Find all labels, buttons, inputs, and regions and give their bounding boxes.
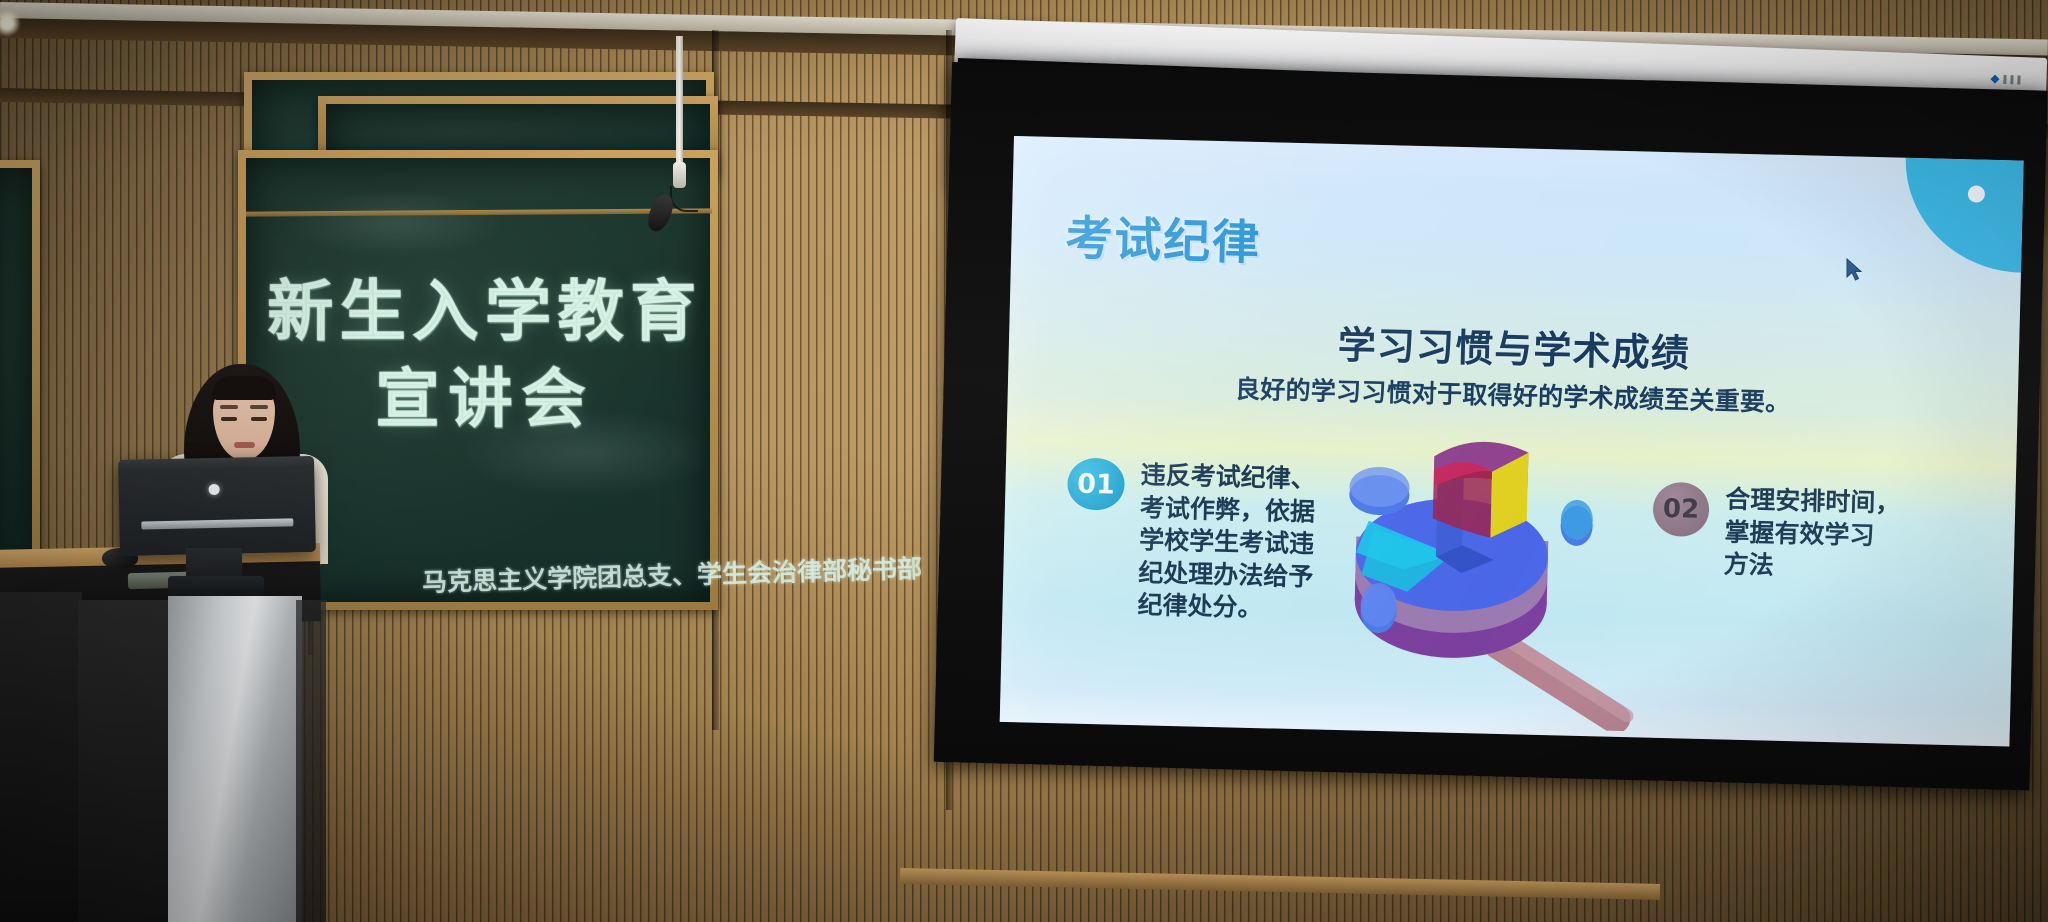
monitor-base [168, 576, 264, 598]
bullet-02-text: 合理安排时间， 掌握有效学习 方法 [1723, 483, 1900, 585]
monitor-bezel-strip [141, 518, 293, 529]
presenter-brow-right [250, 405, 268, 409]
microphone-joint [673, 162, 686, 188]
slide-corner-decoration [1903, 158, 2024, 273]
bullet-01-line-4: 纪处理办法给予 [1138, 557, 1314, 594]
presenter-eye-right [251, 417, 267, 421]
slide-title: 考试纪律 [1065, 199, 1262, 273]
brand-bar-1 [2003, 75, 2006, 84]
podium-shadow-edge [296, 600, 326, 922]
presenter-mouth [234, 442, 255, 448]
cabinet-left [0, 592, 82, 922]
podium-monitor[interactable] [118, 456, 316, 556]
microphone-rod [676, 36, 683, 168]
podium-dark-panel [78, 600, 174, 922]
slide-bullet-01: 01 违反考试纪律、 考试作弊，依据 学校学生考试违 纪处理办法给予 纪律处分。 [1064, 457, 1388, 627]
bullet-01-line-2: 考试作弊，依据 [1140, 492, 1316, 529]
lecture-hall-scene: 新生入学教育 宣讲会 马克思主义学院团总支、学生会治律部秘书部 考试纪律 学习习… [0, 0, 2048, 922]
projected-slide[interactable]: 考试纪律 学习习惯与学术成绩 良好的学习习惯对于取得好的学术成绩至关重要。 01… [1000, 136, 2024, 747]
presenter-eye-left [221, 417, 237, 421]
bullet-01-text: 违反考试纪律、 考试作弊，依据 学校学生考试违 纪处理办法给予 纪律处分。 [1137, 459, 1316, 626]
bullet-01-badge: 01 [1067, 457, 1125, 510]
podium-body [168, 596, 302, 922]
brand-bar-2 [2010, 75, 2013, 84]
blackboard-left-surface [0, 168, 32, 582]
brand-diamond-icon [1990, 74, 1999, 83]
presenter-fringe [212, 376, 276, 400]
blackboard-left-edge [0, 160, 40, 590]
bullet-02-line-1: 合理安排时间， [1725, 483, 1901, 520]
bullet-01-line-5: 纪律处分。 [1137, 589, 1313, 626]
pie-chart-illustration [1340, 424, 1687, 732]
slide-bullet-02: 02 合理安排时间， 掌握有效学习 方法 [1651, 482, 1983, 588]
brand-bar-3 [2017, 75, 2020, 84]
bullet-01-line-1: 违反考试纪律、 [1140, 459, 1316, 496]
bullet-01-line-3: 学校学生考试违 [1139, 524, 1315, 561]
presenter-brow-left [220, 405, 238, 409]
blackboard-title-line2: 宣讲会 [250, 348, 720, 440]
bullet-02-line-2: 掌握有效学习 [1724, 516, 1900, 553]
housing-brand-logo [1990, 74, 2020, 84]
blackboard-title-line1: 新生入学教育 [250, 258, 720, 354]
bullet-02-line-3: 方法 [1723, 548, 1899, 585]
chalk-smudge-a [286, 188, 506, 258]
monitor-power-indicator [209, 484, 220, 495]
